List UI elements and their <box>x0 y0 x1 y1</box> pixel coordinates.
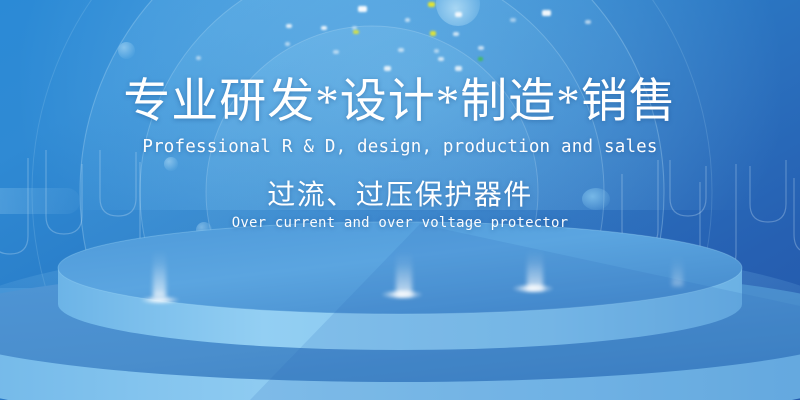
page-subtitle: 过流、过压保护器件 <box>0 158 800 213</box>
stage-podium-decoration <box>0 220 800 400</box>
page-subtitle-english: Over current and over voltage protector <box>0 213 800 233</box>
banner-copy: 专业研发*设计*制造*销售 Professional R & D, design… <box>0 0 800 233</box>
promo-banner: 专业研发*设计*制造*销售 Professional R & D, design… <box>0 0 800 400</box>
page-title-english: Professional R & D, design, production a… <box>0 130 800 158</box>
page-title: 专业研发*设计*制造*销售 <box>0 0 800 130</box>
